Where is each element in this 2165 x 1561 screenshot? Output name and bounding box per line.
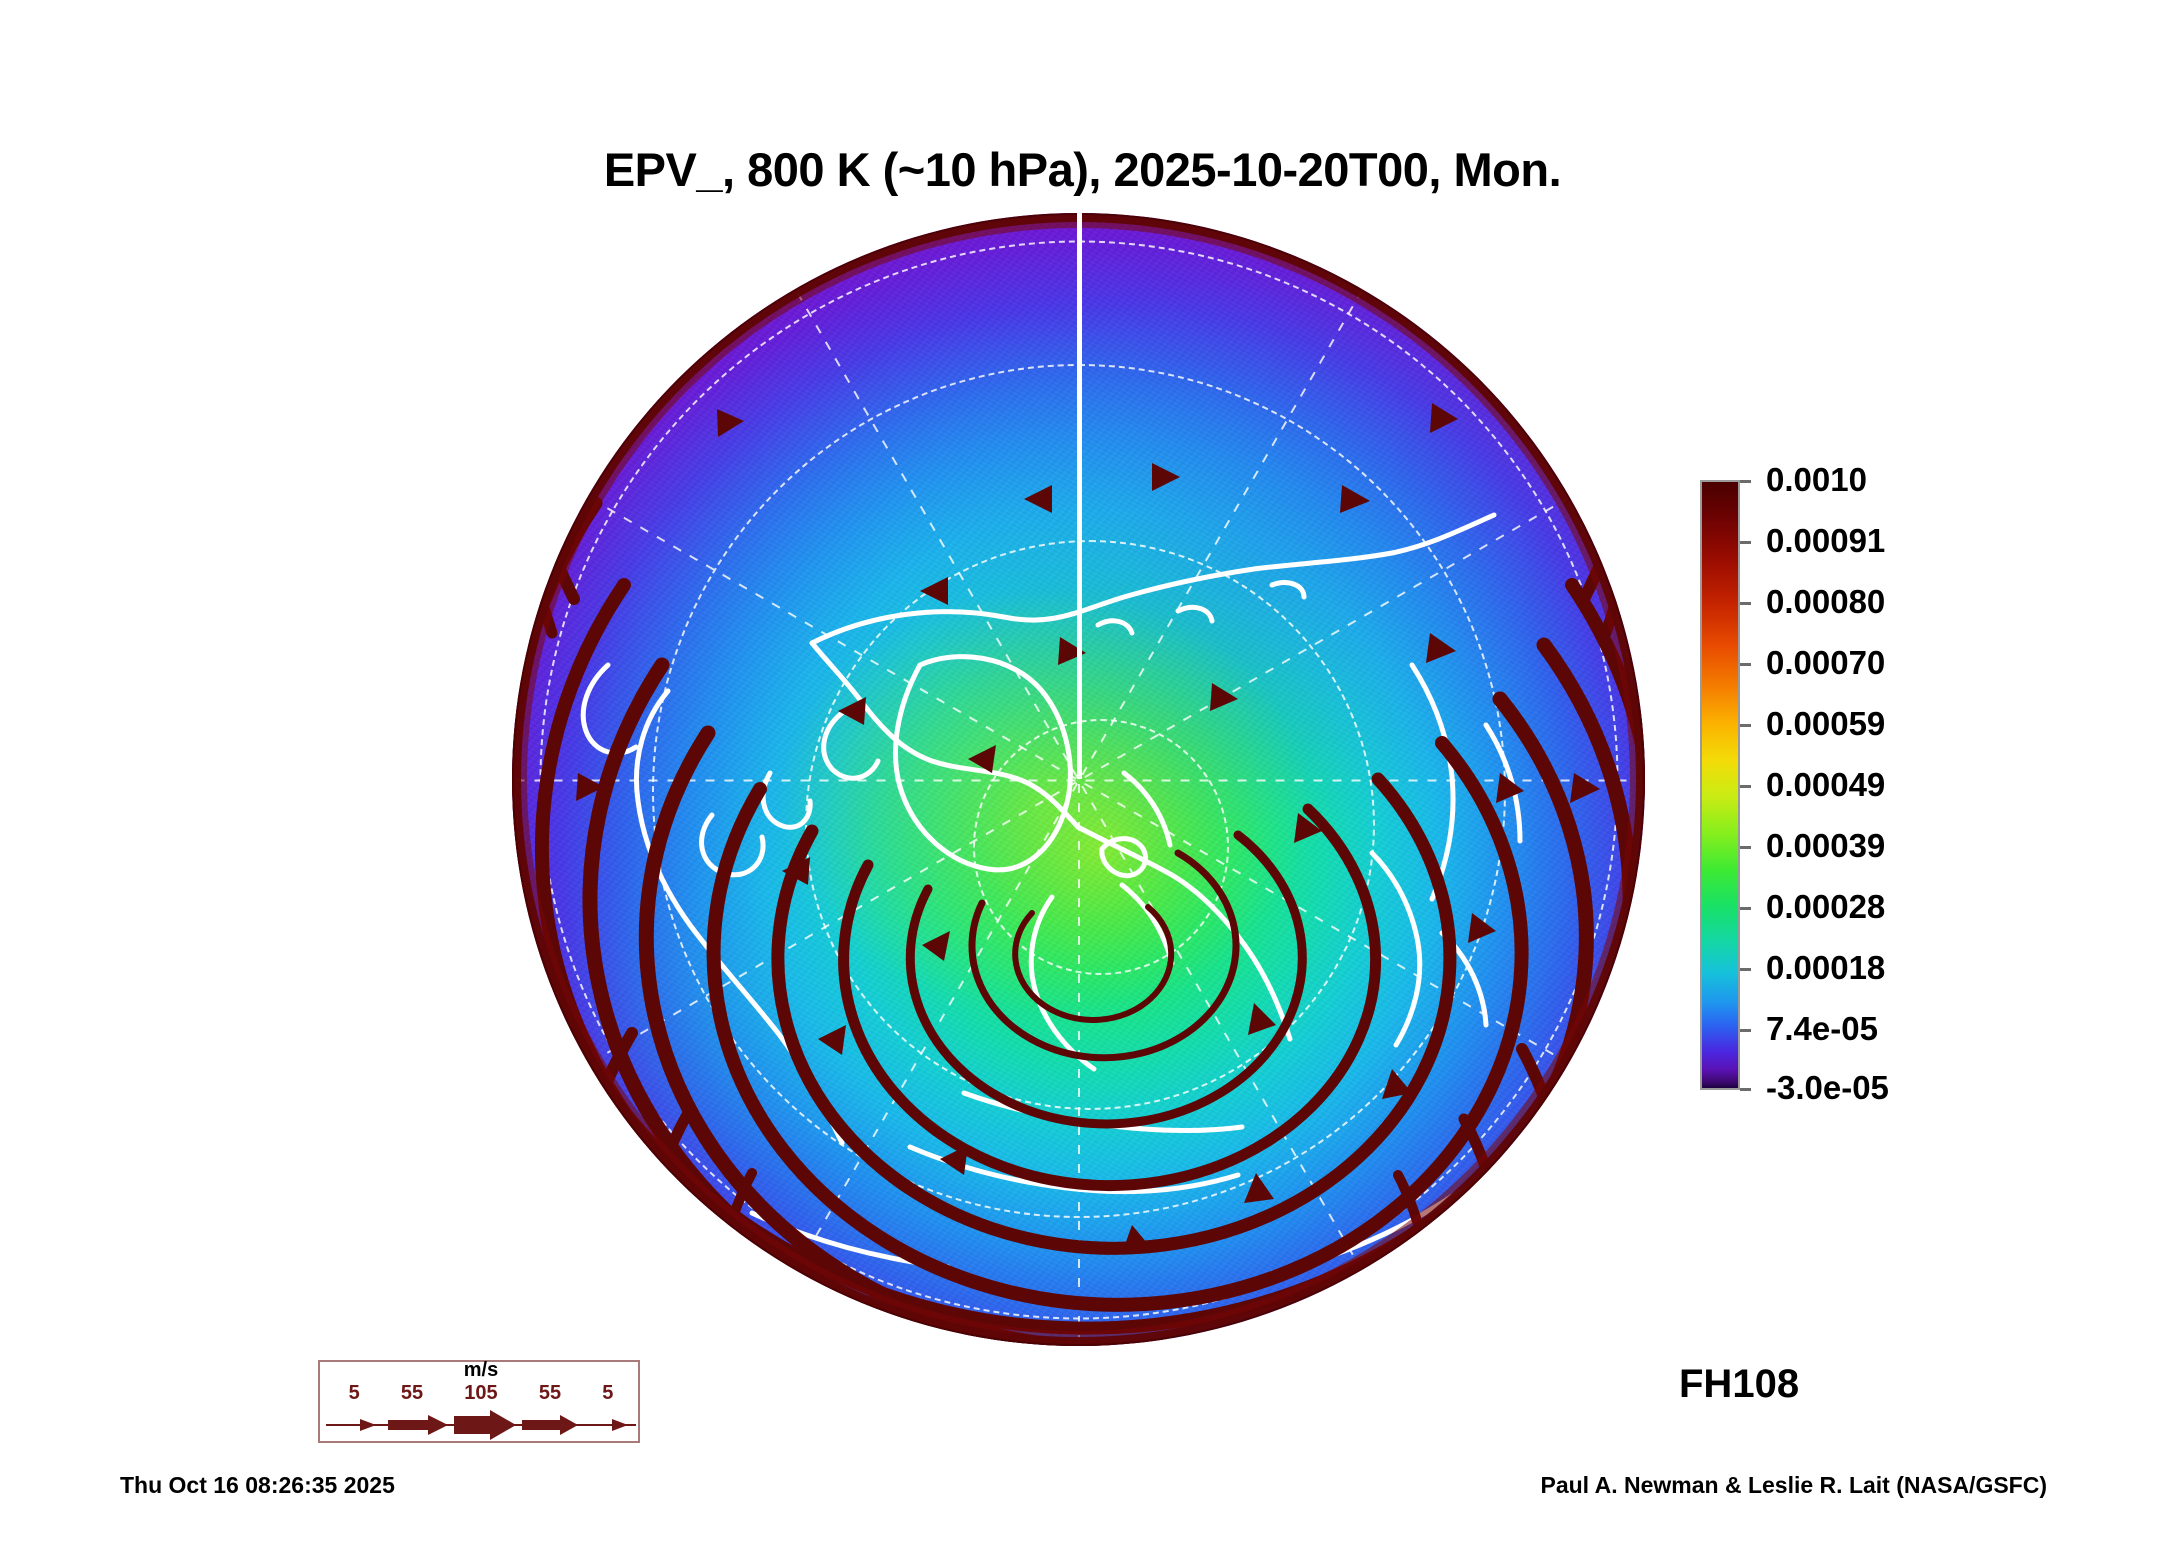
map-disc	[512, 213, 1645, 1346]
wind-speed-value: 5	[602, 1382, 613, 1405]
prime-meridian-line	[1077, 213, 1082, 779]
colorbar-tick	[1740, 480, 1751, 483]
colorbar-tick	[1740, 907, 1751, 910]
colorbar-tick	[1740, 602, 1751, 605]
colorbar-label: 0.00070	[1766, 644, 1885, 682]
colorbar-label: -3.0e-05	[1766, 1069, 1889, 1107]
generation-timestamp: Thu Oct 16 08:26:35 2025	[120, 1472, 395, 1499]
colorbar-tick	[1740, 785, 1751, 788]
colorbar-label: 0.00039	[1766, 827, 1885, 865]
wind-speed-values: 5 55 105 55 5	[320, 1382, 642, 1405]
colorbar-tick	[1740, 968, 1751, 971]
colorbar-tick	[1740, 724, 1751, 727]
colorbar-label: 0.00018	[1766, 949, 1885, 987]
colorbar-label: 0.00028	[1766, 888, 1885, 926]
colorbar-label: 0.00049	[1766, 766, 1885, 804]
wind-speed-value: 105	[464, 1382, 497, 1405]
colorbar-tick	[1740, 1029, 1751, 1032]
colorbar-tick	[1740, 663, 1751, 666]
wind-speed-value: 55	[401, 1382, 423, 1405]
colorbar-tick	[1740, 846, 1751, 849]
wind-speed-legend: m/s 5 55 105 55 5	[318, 1360, 640, 1443]
author-credit: Paul A. Newman & Leslie R. Lait (NASA/GS…	[1540, 1472, 2047, 1499]
colorbar-label: 0.00091	[1766, 522, 1885, 560]
wind-speed-unit-label: m/s	[320, 1359, 642, 1382]
colorbar-gradient	[1700, 480, 1740, 1090]
colorbar-label: 0.00080	[1766, 583, 1885, 621]
colorbar-label: 0.00059	[1766, 705, 1885, 743]
colorbar-label: 0.0010	[1766, 461, 1867, 499]
page-title: EPV_, 800 K (~10 hPa), 2025-10-20T00, Mo…	[0, 142, 2165, 197]
wind-speed-arrow-scale	[326, 1410, 636, 1440]
colorbar-tick	[1740, 1088, 1751, 1091]
colorbar-tick	[1740, 541, 1751, 544]
colorbar: 0.0010 0.00091 0.00080 0.00070 0.00059 0…	[1700, 480, 2120, 1090]
forecast-hour-label: FH108	[1679, 1362, 1799, 1407]
colorbar-label: 7.4e-05	[1766, 1010, 1878, 1048]
wind-speed-value: 5	[349, 1382, 360, 1405]
wind-speed-value: 55	[539, 1382, 561, 1405]
polar-map	[512, 213, 1645, 1346]
